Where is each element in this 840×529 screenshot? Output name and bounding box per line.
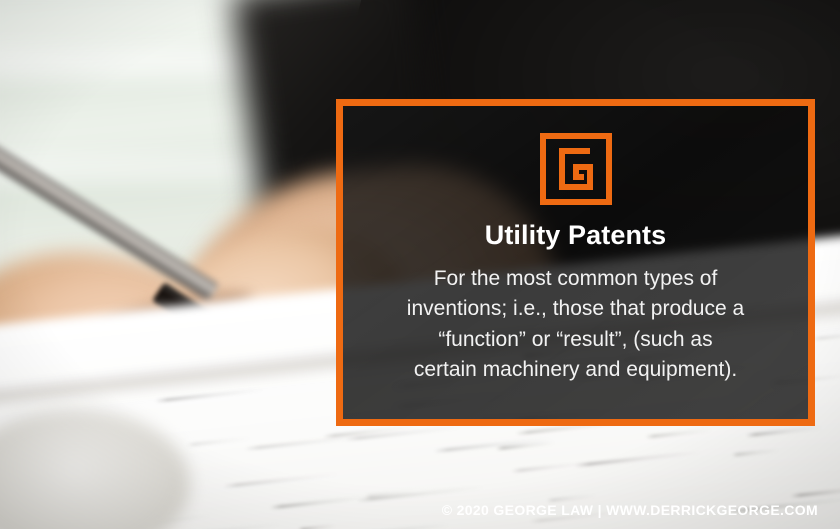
george-law-logo-icon — [540, 133, 612, 205]
copyright-footer: © 2020 GEORGE LAW | WWW.DERRICKGEORGE.CO… — [0, 502, 818, 518]
card-description: For the most common types of inventions;… — [376, 264, 776, 386]
card-description-line: For the most common types of — [376, 264, 776, 294]
card-description-line: certain machinery and equipment). — [376, 355, 776, 385]
screenshot-root: Utility Patents For the most common type… — [0, 0, 840, 529]
page-title: Utility Patents — [485, 221, 667, 251]
card-description-line: “function” or “result”, (such as — [376, 325, 776, 355]
card-description-line: inventions; i.e., those that produce a — [376, 294, 776, 324]
info-card: Utility Patents For the most common type… — [336, 99, 815, 426]
